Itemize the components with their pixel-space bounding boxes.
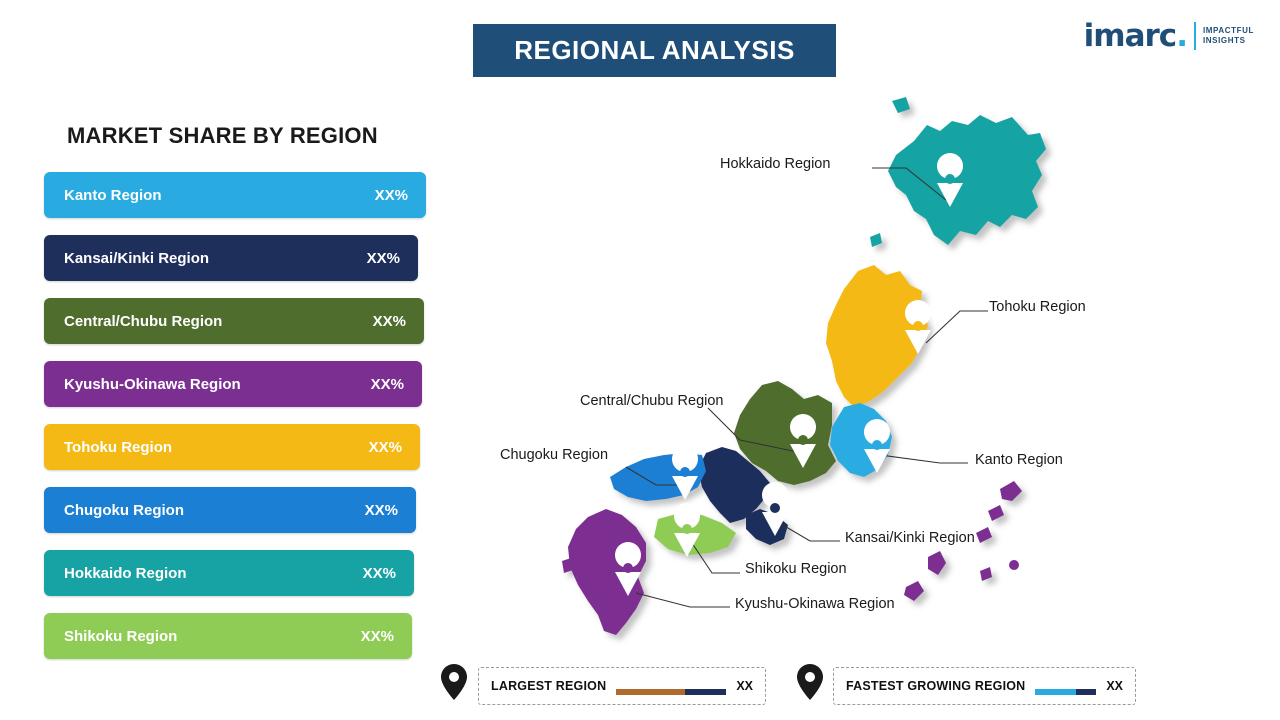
legend-label: Hokkaido Region bbox=[64, 565, 187, 582]
legend-row-kansai-kinki[interactable]: Kansai/Kinki Region XX% bbox=[44, 235, 418, 281]
largest-region-pin-icon bbox=[441, 664, 467, 700]
market-share-heading: MARKET SHARE BY REGION bbox=[67, 123, 378, 149]
map-pin-okinawa[interactable] bbox=[1001, 539, 1027, 593]
market-share-legend-list: Kanto Region XX% Kansai/Kinki Region XX%… bbox=[44, 172, 434, 676]
largest-region-label: LARGEST REGION bbox=[491, 679, 606, 693]
region-okinawa-island-3[interactable] bbox=[976, 527, 992, 543]
logo-wordmark: imarc. bbox=[1084, 18, 1187, 54]
region-okinawa-island-4[interactable] bbox=[928, 551, 946, 575]
leader-kanto bbox=[880, 455, 968, 463]
region-hokkaido[interactable] bbox=[888, 115, 1046, 245]
logo-tagline-line1: IMPACTFUL bbox=[1203, 26, 1254, 36]
japan-map-svg bbox=[440, 95, 1280, 665]
map-label-kansai-kinki: Kansai/Kinki Region bbox=[845, 530, 975, 546]
legend-label: Kyushu-Okinawa Region bbox=[64, 376, 241, 393]
region-okinawa-island-6[interactable] bbox=[980, 567, 992, 581]
legend-value: XX% bbox=[369, 439, 402, 456]
region-hokkaido-islet bbox=[892, 97, 910, 113]
legend-row-central-chubu[interactable]: Central/Chubu Region XX% bbox=[44, 298, 424, 344]
region-okinawa-island-1[interactable] bbox=[1000, 481, 1022, 501]
region-okinawa-island-2[interactable] bbox=[988, 505, 1004, 521]
legend-row-chugoku[interactable]: Chugoku Region XX% bbox=[44, 487, 416, 533]
slide: REGIONAL ANALYSIS imarc. IMPACTFUL INSIG… bbox=[0, 0, 1280, 720]
region-hokkaido-islet-2 bbox=[870, 233, 882, 247]
page-title-text: REGIONAL ANALYSIS bbox=[514, 35, 795, 66]
legend-value: XX% bbox=[367, 250, 400, 267]
legend-label: Tohoku Region bbox=[64, 439, 172, 456]
fastest-region-bar bbox=[1035, 689, 1096, 695]
fastest-region-label: FASTEST GROWING REGION bbox=[846, 679, 1025, 693]
legend-row-tohoku[interactable]: Tohoku Region XX% bbox=[44, 424, 420, 470]
fastest-region-value: XX bbox=[1106, 679, 1123, 693]
legend-row-shikoku[interactable]: Shikoku Region XX% bbox=[44, 613, 412, 659]
map-label-central-chubu: Central/Chubu Region bbox=[580, 393, 723, 409]
leader-kyushu bbox=[636, 593, 730, 607]
map-label-kyushu-okinawa: Kyushu-Okinawa Region bbox=[735, 596, 895, 612]
legend-value: XX% bbox=[371, 376, 404, 393]
map-label-kanto: Kanto Region bbox=[975, 452, 1063, 468]
largest-region-value: XX bbox=[736, 679, 753, 693]
leader-tohoku bbox=[926, 311, 988, 343]
largest-region-box: LARGEST REGION XX bbox=[478, 667, 766, 705]
map-label-shikoku: Shikoku Region bbox=[745, 561, 847, 577]
legend-label: Chugoku Region bbox=[64, 502, 184, 519]
legend-value: XX% bbox=[361, 628, 394, 645]
brand-logo: imarc. IMPACTFUL INSIGHTS bbox=[1084, 16, 1254, 56]
page-title: REGIONAL ANALYSIS bbox=[473, 24, 836, 77]
legend-value: XX% bbox=[373, 313, 406, 330]
largest-region-bar bbox=[616, 689, 726, 695]
legend-label: Kansai/Kinki Region bbox=[64, 250, 209, 267]
map-label-tohoku: Tohoku Region bbox=[989, 299, 1086, 315]
legend-label: Kanto Region bbox=[64, 187, 162, 204]
japan-map: Hokkaido Region Tohoku Region Central/Ch… bbox=[440, 95, 1280, 665]
fastest-region-box: FASTEST GROWING REGION XX bbox=[833, 667, 1136, 705]
legend-row-kanto[interactable]: Kanto Region XX% bbox=[44, 172, 426, 218]
legend-row-kyushu-okinawa[interactable]: Kyushu-Okinawa Region XX% bbox=[44, 361, 422, 407]
logo-divider bbox=[1194, 22, 1196, 50]
legend-value: XX% bbox=[375, 187, 408, 204]
fastest-region-pin-icon bbox=[797, 664, 823, 700]
map-label-hokkaido: Hokkaido Region bbox=[720, 156, 830, 172]
legend-label: Shikoku Region bbox=[64, 628, 177, 645]
logo-wordmark-text: imarc bbox=[1084, 18, 1177, 54]
logo-accent-dot: . bbox=[1176, 18, 1187, 54]
logo-tagline: IMPACTFUL INSIGHTS bbox=[1203, 26, 1254, 46]
map-label-chugoku: Chugoku Region bbox=[500, 447, 608, 463]
logo-tagline-line2: INSIGHTS bbox=[1203, 36, 1254, 46]
legend-label: Central/Chubu Region bbox=[64, 313, 222, 330]
legend-value: XX% bbox=[365, 502, 398, 519]
region-okinawa-island-5[interactable] bbox=[904, 581, 924, 601]
legend-value: XX% bbox=[363, 565, 396, 582]
legend-row-hokkaido[interactable]: Hokkaido Region XX% bbox=[44, 550, 414, 596]
